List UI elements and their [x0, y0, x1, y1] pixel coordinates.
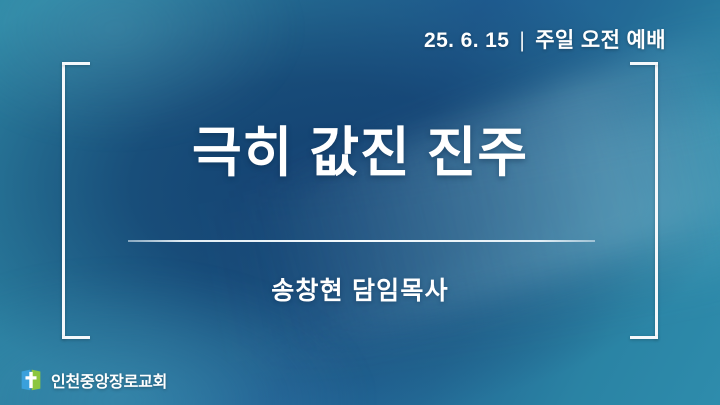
- bracket-top-right-horizontal: [630, 62, 658, 65]
- sermon-title: 극히 값진 진주: [0, 125, 720, 182]
- header-service-info: 25. 6. 15 | 주일 오전 예배: [424, 24, 666, 54]
- sermon-title-slide: 25. 6. 15 | 주일 오전 예배 극히 값진 진주 송창현 담임목사: [0, 0, 720, 405]
- church-name: 인천중앙장로교회: [51, 368, 167, 392]
- service-name: 주일 오전 예배: [535, 24, 666, 54]
- bracket-bottom-right-horizontal: [630, 336, 658, 339]
- open-bible-cross-icon: [18, 367, 44, 393]
- service-date: 25. 6. 15: [424, 29, 509, 53]
- bracket-bottom-left-horizontal: [62, 336, 90, 339]
- title-divider: [128, 240, 595, 242]
- church-logo: 인천중앙장로교회: [18, 367, 167, 393]
- speaker-name: 송창현 담임목사: [0, 271, 720, 307]
- corner-bracket-frame: [0, 0, 720, 405]
- bracket-top-left-horizontal: [62, 62, 90, 65]
- header-separator: |: [518, 29, 526, 53]
- background-light-streak-lower: [207, 76, 720, 361]
- background-navy-vignette: [0, 0, 720, 405]
